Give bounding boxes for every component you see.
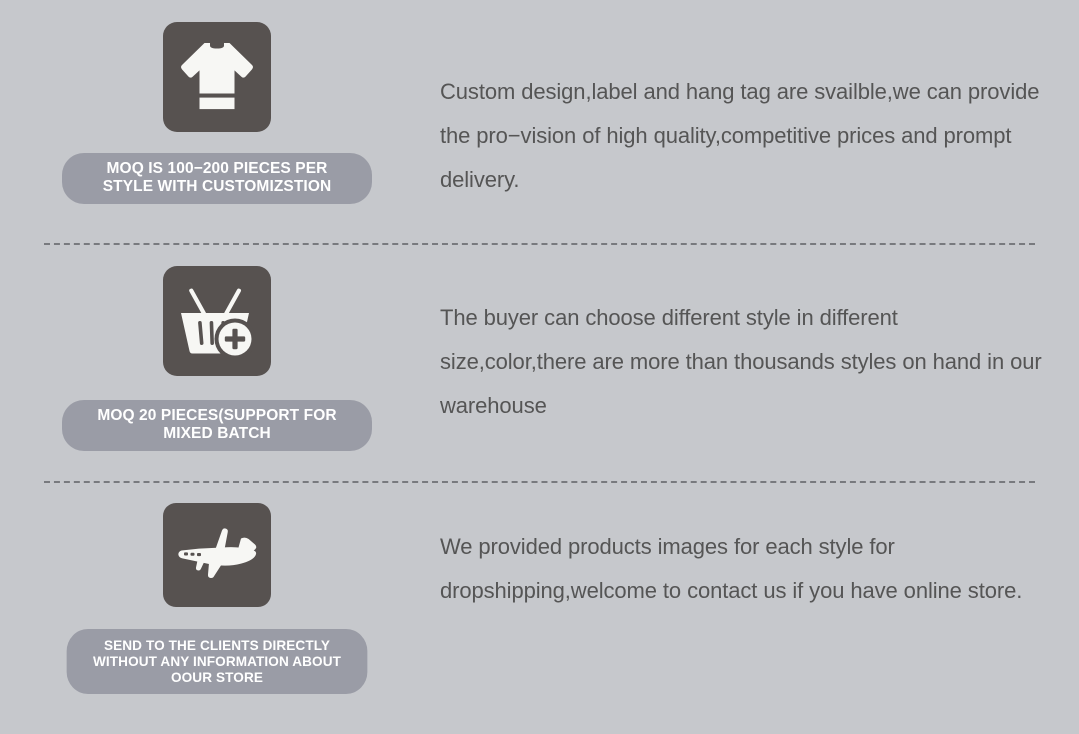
service-features-panel: MOQ IS 100−200 PIECES PER STYLE WITH CUS… bbox=[0, 0, 1079, 734]
airplane-icon-tile bbox=[163, 503, 271, 607]
badge-dropshipping-privacy: SEND TO THE CLIENTS DIRECTLY WITHOUT ANY… bbox=[67, 629, 368, 694]
airplane-icon bbox=[175, 522, 259, 588]
feature-icon-group-dropshipping: SEND TO THE CLIENTS DIRECTLY WITHOUT ANY… bbox=[0, 503, 440, 694]
badge-moq-mixed-batch: MOQ 20 PIECES(SUPPORT FOR MIXED BATCH bbox=[62, 400, 372, 451]
feature-row-dropshipping: SEND TO THE CLIENTS DIRECTLY WITHOUT ANY… bbox=[0, 503, 1079, 698]
badge-moq-customization: MOQ IS 100−200 PIECES PER STYLE WITH CUS… bbox=[62, 153, 372, 204]
feature-description-customization: Custom design,label and hang tag are sva… bbox=[440, 22, 1079, 202]
feature-row-customization: MOQ IS 100−200 PIECES PER STYLE WITH CUS… bbox=[0, 22, 1079, 232]
section-divider-1 bbox=[44, 243, 1035, 245]
section-divider-2 bbox=[44, 481, 1035, 483]
tshirt-icon-tile bbox=[163, 22, 271, 132]
feature-icon-group-customization: MOQ IS 100−200 PIECES PER STYLE WITH CUS… bbox=[0, 22, 440, 204]
shopping-basket-add-icon bbox=[177, 283, 257, 359]
feature-description-dropshipping: We provided products images for each sty… bbox=[440, 503, 1079, 613]
feature-icon-group-mixed-batch: MOQ 20 PIECES(SUPPORT FOR MIXED BATCH bbox=[0, 266, 440, 451]
feature-row-mixed-batch: MOQ 20 PIECES(SUPPORT FOR MIXED BATCH Th… bbox=[0, 266, 1079, 471]
tshirt-icon bbox=[178, 39, 256, 115]
feature-description-mixed-batch: The buyer can choose different style in … bbox=[440, 266, 1079, 428]
shopping-basket-add-icon-tile bbox=[163, 266, 271, 376]
